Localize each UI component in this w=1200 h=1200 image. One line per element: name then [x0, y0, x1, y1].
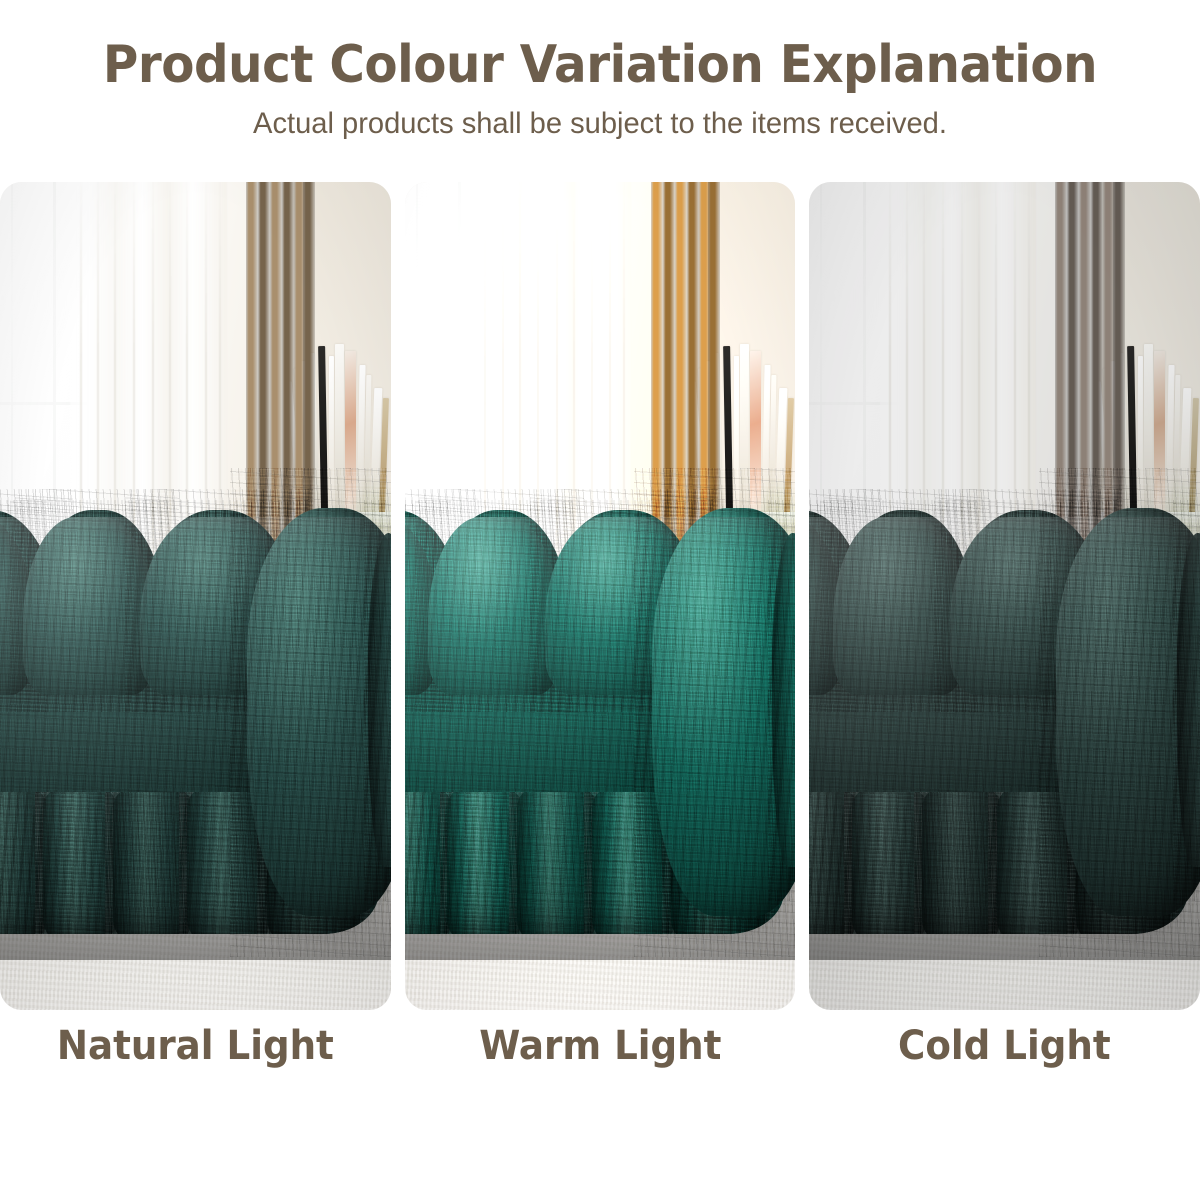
sofa-front-channel [852, 792, 927, 934]
sofa-rolled-arm [247, 508, 391, 916]
fabric-weave [517, 792, 596, 934]
fabric-weave [1177, 533, 1200, 867]
fabric-weave [447, 792, 522, 934]
book [723, 346, 733, 512]
product-photo-warm-light [405, 182, 796, 1010]
room-scene [0, 182, 391, 1010]
book [1127, 346, 1137, 512]
sofa-arm-crease [1177, 533, 1200, 867]
fabric-weave [405, 792, 452, 934]
book [740, 344, 749, 512]
sofa-front-channel [43, 792, 118, 934]
book [734, 356, 739, 512]
fabric-weave [368, 533, 391, 867]
book [329, 356, 334, 512]
room-scene [405, 182, 796, 1010]
fabric-weave [428, 517, 560, 694]
room-scene [809, 182, 1200, 1010]
sofa [809, 517, 1200, 960]
sofa-arm-crease [368, 533, 391, 867]
sofa-front-channel [447, 792, 522, 934]
caption-row: Natural LightWarm LightCold Light [0, 1016, 1200, 1076]
sofa [0, 517, 391, 960]
page-title: Product Colour Variation Explanation [42, 38, 1158, 93]
sofa-front-channel [113, 792, 192, 934]
sofa-seat-cushion [428, 517, 560, 694]
sofa-front-channel [0, 792, 47, 934]
page-subtitle: Actual products shall be subject to the … [18, 107, 1182, 140]
book [1144, 344, 1153, 512]
sofa-rolled-arm [652, 508, 796, 916]
sofa-front-channel [405, 792, 452, 934]
fabric-weave [833, 517, 965, 694]
sofa-front-channel [517, 792, 596, 934]
sofa-rolled-arm [1056, 508, 1200, 916]
fabric-weave [809, 792, 856, 934]
book [318, 346, 328, 512]
sofa-seat-cushion [23, 517, 155, 694]
fabric-weave [772, 533, 795, 867]
caption-warm-light: Warm Light [418, 1016, 781, 1076]
header: Product Colour Variation Explanation Act… [0, 0, 1200, 140]
caption-cold-light: Cold Light [823, 1016, 1186, 1076]
product-photo-cold-light [809, 182, 1200, 1010]
fabric-weave [922, 792, 1001, 934]
book [335, 344, 344, 512]
fabric-weave [852, 792, 927, 934]
product-photo-natural-light [0, 182, 391, 1010]
fabric-weave [0, 792, 47, 934]
sofa [405, 517, 796, 960]
sofa-front-channel [809, 792, 856, 934]
caption-natural-light: Natural Light [14, 1016, 377, 1076]
fabric-weave [23, 517, 155, 694]
book [1138, 356, 1143, 512]
fabric-weave [43, 792, 118, 934]
sofa-arm-crease [772, 533, 795, 867]
fabric-weave [113, 792, 192, 934]
sofa-front-channel [922, 792, 1001, 934]
comparison-panel-row [0, 182, 1200, 1010]
sofa-seat-cushion [833, 517, 965, 694]
